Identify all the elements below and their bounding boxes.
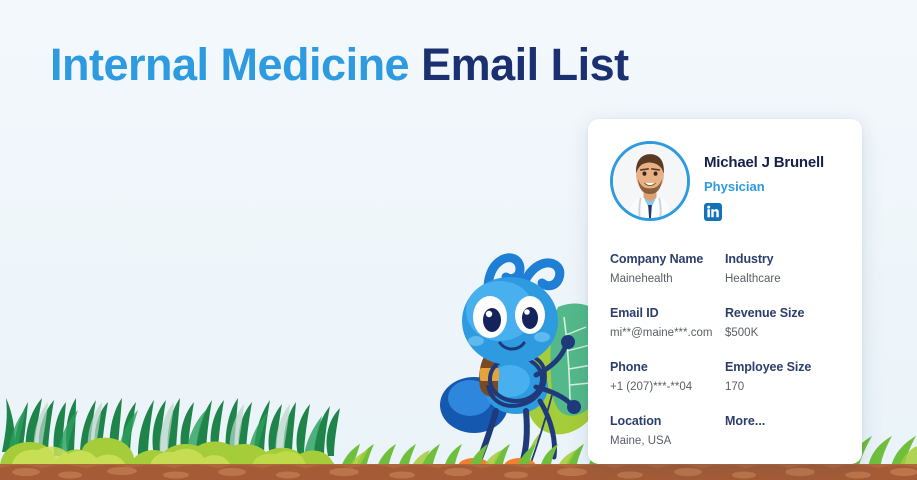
field-label: Location [610,413,725,430]
field-value: Mainehealth [610,271,725,287]
person-name: Michael J Brunell [704,154,824,172]
person-role: Physician [704,179,824,195]
contact-field-grid: Company Name Mainehealth Industry Health… [610,251,840,449]
field-label: Phone [610,359,725,376]
field-value: 170 [725,379,840,395]
field-label: Revenue Size [725,305,840,322]
field-label: Company Name [610,251,725,268]
field-email-id: Email ID mi**@maine***.com [610,305,725,341]
field-company-name: Company Name Mainehealth [610,251,725,287]
more-label[interactable]: More... [725,413,840,430]
page-title-secondary: Email List [421,39,629,90]
field-industry: Industry Healthcare [725,251,840,287]
field-value: Maine, USA [610,433,725,449]
field-value: +1 (207)***-**04 [610,379,725,395]
field-value: mi**@maine***.com [610,325,725,341]
field-phone: Phone +1 (207)***-**04 [610,359,725,395]
card-header: Michael J Brunell Physician [610,141,840,241]
page-title-primary: Internal Medicine [50,39,421,90]
field-label: Email ID [610,305,725,322]
linkedin-icon[interactable] [704,203,722,221]
avatar [610,141,690,221]
field-label: Employee Size [725,359,840,376]
contact-profile-card: Michael J Brunell Physician Company Name… [588,119,862,464]
hero-banner: Internal Medicine Email List [0,0,917,480]
field-more-link[interactable]: More... [725,413,840,449]
page-title: Internal Medicine Email List [50,36,629,94]
field-location: Location Maine, USA [610,413,725,449]
person-meta: Michael J Brunell Physician [704,141,824,221]
field-value: Healthcare [725,271,840,287]
field-label: Industry [725,251,840,268]
field-value: $500K [725,325,840,341]
field-revenue-size: Revenue Size $500K [725,305,840,341]
field-employee-size: Employee Size 170 [725,359,840,395]
